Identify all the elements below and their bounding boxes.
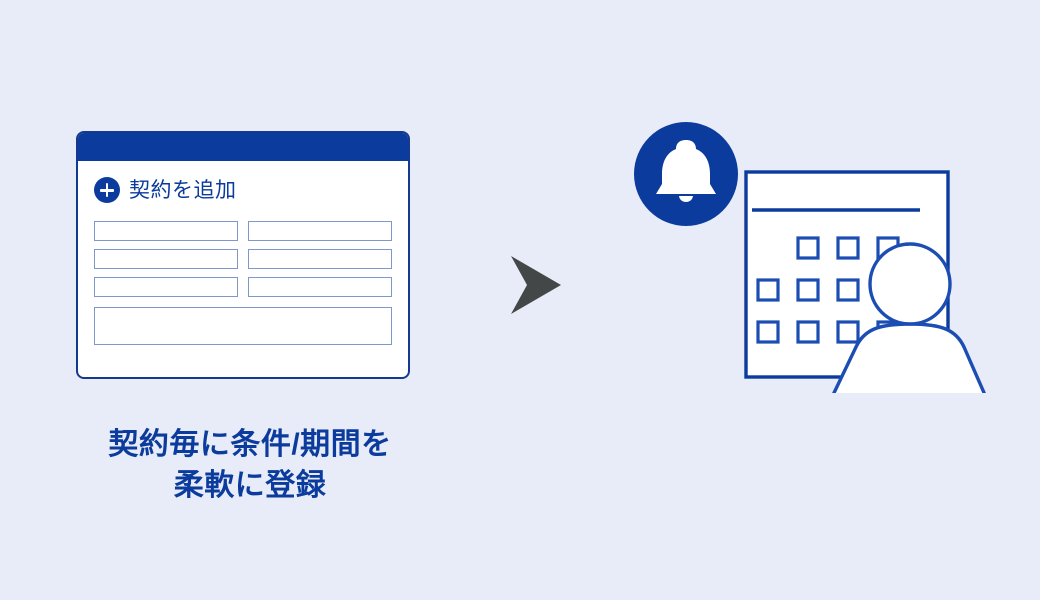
card-body: 契約を追加 — [78, 161, 408, 345]
add-contract-heading-row[interactable]: 契約を追加 — [94, 177, 392, 203]
form-notes-textarea[interactable] — [94, 307, 392, 345]
right-feature-panel: 業務の抜け漏れまで 防止 — [560, 0, 1040, 600]
left-feature-panel: 契約を追加 契約毎に条件/期間を — [0, 0, 480, 600]
left-caption: 契約毎に条件/期間を 柔軟に登録 — [20, 424, 480, 507]
plus-icon[interactable] — [94, 177, 120, 203]
form-field-1b[interactable] — [248, 221, 392, 241]
form-field-3a[interactable] — [94, 277, 238, 297]
left-caption-line-1: 契約毎に条件/期間を — [20, 424, 480, 465]
form-notes-row — [94, 305, 392, 345]
form-field-2b[interactable] — [248, 249, 392, 269]
illustration-stage: 契約を追加 契約毎に条件/期間を — [0, 0, 1040, 600]
form-field-row-1 — [94, 221, 392, 241]
add-contract-label: 契約を追加 — [129, 180, 237, 201]
card-titlebar — [78, 133, 408, 161]
contract-form-card: 契約を追加 — [76, 131, 410, 379]
notification-calendar-illustration — [620, 118, 1040, 393]
left-caption-line-2: 柔軟に登録 — [20, 465, 480, 506]
form-field-2a[interactable] — [94, 249, 238, 269]
chevron-right-arrow-icon — [505, 252, 567, 318]
form-field-1a[interactable] — [94, 221, 238, 241]
bell-notification-icon — [634, 122, 738, 226]
form-field-3b[interactable] — [248, 277, 392, 297]
form-field-row-3 — [94, 277, 392, 297]
form-field-row-2 — [94, 249, 392, 269]
